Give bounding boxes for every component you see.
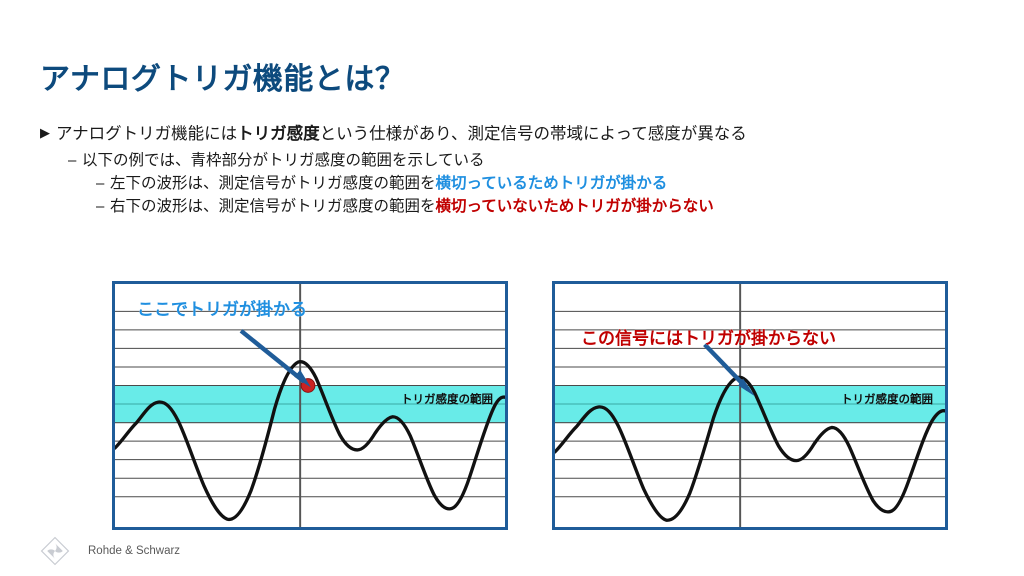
bullet-1-part-3: という仕様があり、測定信号の帯域によって感度が異なる xyxy=(320,125,747,143)
bullet-marker-triangle-icon: ▶ xyxy=(40,124,56,142)
bullet-item-2: – 以下の例では、青枠部分がトリガ感度の範囲を示している xyxy=(40,151,990,171)
bullet-item-3: – 左下の波形は、測定信号がトリガ感度の範囲を横切っているためトリガが掛かる xyxy=(40,174,990,194)
bullet-item-4: – 右下の波形は、測定信号がトリガ感度の範囲を横切っていないためトリガが掛からな… xyxy=(40,197,990,217)
chart-left-band-label: トリガ感度の範囲 xyxy=(401,391,493,407)
bullet-marker-dash-icon: – xyxy=(68,151,82,171)
bullet-marker-dash-icon: – xyxy=(96,197,110,217)
bullet-1-part-1: アナログトリガ機能には xyxy=(56,125,237,143)
bullet-1-emphasis: トリガ感度 xyxy=(237,125,320,143)
chart-right-band-label: トリガ感度の範囲 xyxy=(841,391,933,407)
bullet-4-highlight: 横切っていないためトリガが掛からない xyxy=(436,198,714,215)
bullet-text-1: アナログトリガ機能にはトリガ感度という仕様があり、測定信号の帯域によって感度が異… xyxy=(56,124,990,145)
bullet-text-2: 以下の例では、青枠部分がトリガ感度の範囲を示している xyxy=(82,151,990,170)
bullet-item-1: ▶ アナログトリガ機能にはトリガ感度という仕様があり、測定信号の帯域によって感度… xyxy=(40,124,990,145)
non-triggered-waveform-chart: この信号にはトリガが掛からない トリガ感度の範囲 xyxy=(552,281,948,530)
bullet-text-4: 右下の波形は、測定信号がトリガ感度の範囲を横切っていないためトリガが掛からない xyxy=(110,197,990,216)
footer: Rohde & Schwarz xyxy=(40,536,180,566)
footer-brand-text: Rohde & Schwarz xyxy=(88,545,180,557)
bullet-3-highlight: 横切っているためトリガが掛かる xyxy=(436,175,668,192)
bullet-list: ▶ アナログトリガ機能にはトリガ感度という仕様があり、測定信号の帯域によって感度… xyxy=(40,124,990,219)
bullet-3-part-1: 左下の波形は、測定信号がトリガ感度の範囲を xyxy=(110,175,436,192)
chart-right-annotation: この信号にはトリガが掛からない xyxy=(581,324,836,349)
rohde-schwarz-logo-icon xyxy=(40,536,70,566)
bullet-marker-dash-icon: – xyxy=(96,174,110,194)
chart-left-annotation: ここでトリガが掛かる xyxy=(137,295,307,320)
bullet-4-part-1: 右下の波形は、測定信号がトリガ感度の範囲を xyxy=(110,198,436,215)
triggered-waveform-chart: ここでトリガが掛かる トリガ感度の範囲 xyxy=(112,281,508,530)
page-title: アナログトリガ機能とは？ xyxy=(40,54,405,98)
bullet-text-3: 左下の波形は、測定信号がトリガ感度の範囲を横切っているためトリガが掛かる xyxy=(110,174,990,193)
